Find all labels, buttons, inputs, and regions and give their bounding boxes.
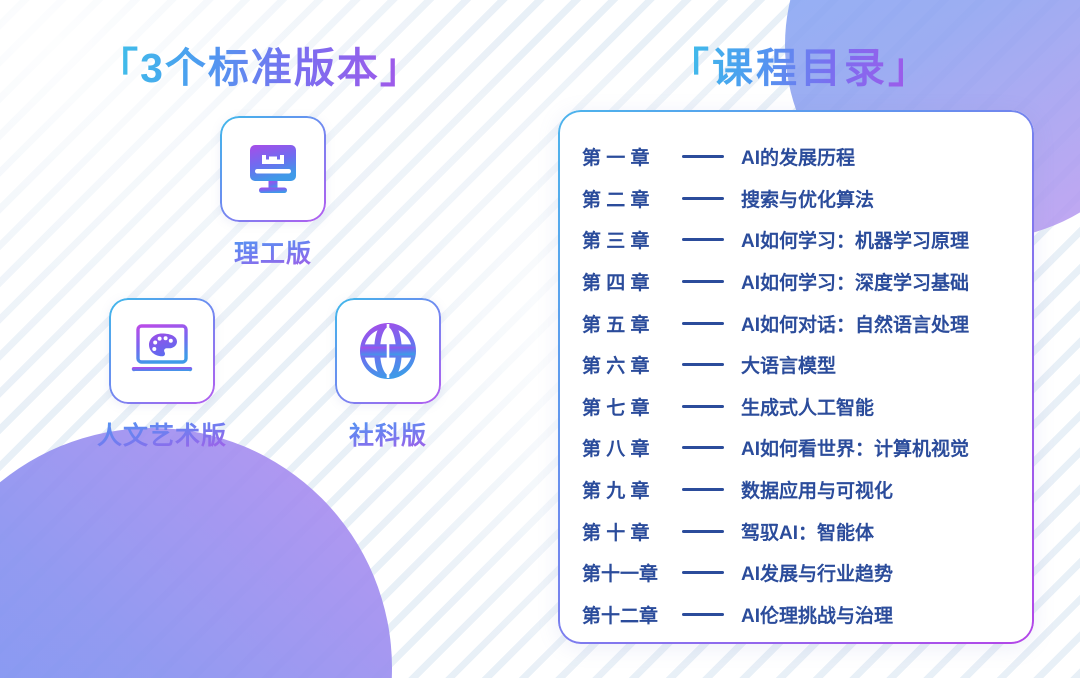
chapter-number: 第十二章 — [582, 601, 678, 628]
chapter-number: 第 九 章 — [582, 476, 678, 503]
chapter-row[interactable]: 第 八 章AI如何看世界：计算机视觉 — [558, 427, 1034, 469]
chapter-title: 数据应用与可视化 — [741, 476, 1034, 503]
chapter-title: AI的发展历程 — [741, 143, 1034, 170]
chapter-row[interactable]: 第 四 章AI如何学习：深度学习基础 — [558, 261, 1034, 303]
chapter-title: 大语言模型 — [741, 351, 1034, 378]
chapter-number: 第 四 章 — [582, 268, 678, 295]
chapter-row[interactable]: 第 十 章驾驭AI：智能体 — [558, 510, 1034, 552]
chapter-separator-dash — [682, 613, 724, 616]
chapter-number: 第 一 章 — [582, 143, 678, 170]
right-section-title-text: 「课程目录」 — [668, 34, 932, 94]
chapter-number: 第 八 章 — [582, 434, 678, 461]
chapter-separator-dash — [682, 322, 724, 325]
version-label: 人文艺术版 — [87, 416, 237, 452]
chapter-row[interactable]: 第 二 章搜索与优化算法 — [558, 178, 1034, 220]
version-label-text: 理工版 — [234, 234, 312, 270]
chapter-title: AI伦理挑战与治理 — [741, 601, 1034, 628]
chapter-number: 第 七 章 — [582, 393, 678, 420]
chapter-separator-dash — [682, 446, 724, 449]
chapter-title: 搜索与优化算法 — [741, 185, 1034, 212]
chapter-separator-dash — [682, 571, 724, 574]
left-section-title-text: 「3个标准版本」 — [97, 34, 423, 94]
chapter-row[interactable]: 第 五 章AI如何对话：自然语言处理 — [558, 302, 1034, 344]
left-section-title: 「3个标准版本」 — [0, 34, 520, 94]
versions-panel: 「3个标准版本」 — [0, 0, 520, 678]
chapter-separator-dash — [682, 155, 724, 158]
chapter-separator-dash — [682, 405, 724, 408]
right-section-title: 「课程目录」 — [520, 34, 1080, 94]
version-item-science[interactable]: 理工版 — [198, 116, 348, 270]
chapter-title: AI如何学习：机器学习原理 — [741, 226, 1034, 253]
chapter-separator-dash — [682, 488, 724, 491]
chapter-number: 第 三 章 — [582, 226, 678, 253]
chapter-row[interactable]: 第 九 章数据应用与可视化 — [558, 469, 1034, 511]
chapter-number: 第 六 章 — [582, 351, 678, 378]
chapter-row[interactable]: 第十二章AI伦理挑战与治理 — [558, 594, 1034, 636]
course-outline-card: 第 一 章AI的发展历程第 二 章搜索与优化算法第 三 章AI如何学习：机器学习… — [558, 110, 1034, 644]
version-label-text: 人文艺术版 — [97, 416, 227, 452]
chapter-title: AI如何学习：深度学习基础 — [741, 268, 1034, 295]
version-label: 社科版 — [313, 416, 463, 452]
version-label: 理工版 — [198, 234, 348, 270]
chapter-row[interactable]: 第十一章AI发展与行业趋势 — [558, 552, 1034, 594]
version-item-social-science[interactable]: 社科版 — [313, 298, 463, 452]
chapter-title: 生成式人工智能 — [741, 393, 1034, 420]
chapter-separator-dash — [682, 197, 724, 200]
chapter-row[interactable]: 第 三 章AI如何学习：机器学习原理 — [558, 219, 1034, 261]
chapter-title: AI如何对话：自然语言处理 — [741, 310, 1034, 337]
chapter-number: 第 二 章 — [582, 185, 678, 212]
chapter-title: 驾驭AI：智能体 — [741, 518, 1034, 545]
chapter-number: 第十一章 — [582, 559, 678, 586]
chapter-separator-dash — [682, 363, 724, 366]
slide-canvas: 「3个标准版本」 — [0, 0, 1080, 678]
chapter-separator-dash — [682, 280, 724, 283]
version-icon-card[interactable] — [109, 298, 215, 404]
version-icon-card[interactable] — [220, 116, 326, 222]
chapter-title: AI如何看世界：计算机视觉 — [741, 434, 1034, 461]
version-label-text: 社科版 — [349, 416, 427, 452]
chapter-row[interactable]: 第 一 章AI的发展历程 — [558, 136, 1034, 178]
chapter-title: AI发展与行业趋势 — [741, 559, 1034, 586]
chapter-number: 第 五 章 — [582, 310, 678, 337]
chapter-list: 第 一 章AI的发展历程第 二 章搜索与优化算法第 三 章AI如何学习：机器学习… — [558, 136, 1034, 635]
chapter-separator-dash — [682, 530, 724, 533]
chapter-row[interactable]: 第 七 章生成式人工智能 — [558, 386, 1034, 428]
chapter-number: 第 十 章 — [582, 518, 678, 545]
version-item-humanities[interactable]: 人文艺术版 — [87, 298, 237, 452]
chapter-separator-dash — [682, 238, 724, 241]
chapter-row[interactable]: 第 六 章大语言模型 — [558, 344, 1034, 386]
version-icon-card[interactable] — [335, 298, 441, 404]
